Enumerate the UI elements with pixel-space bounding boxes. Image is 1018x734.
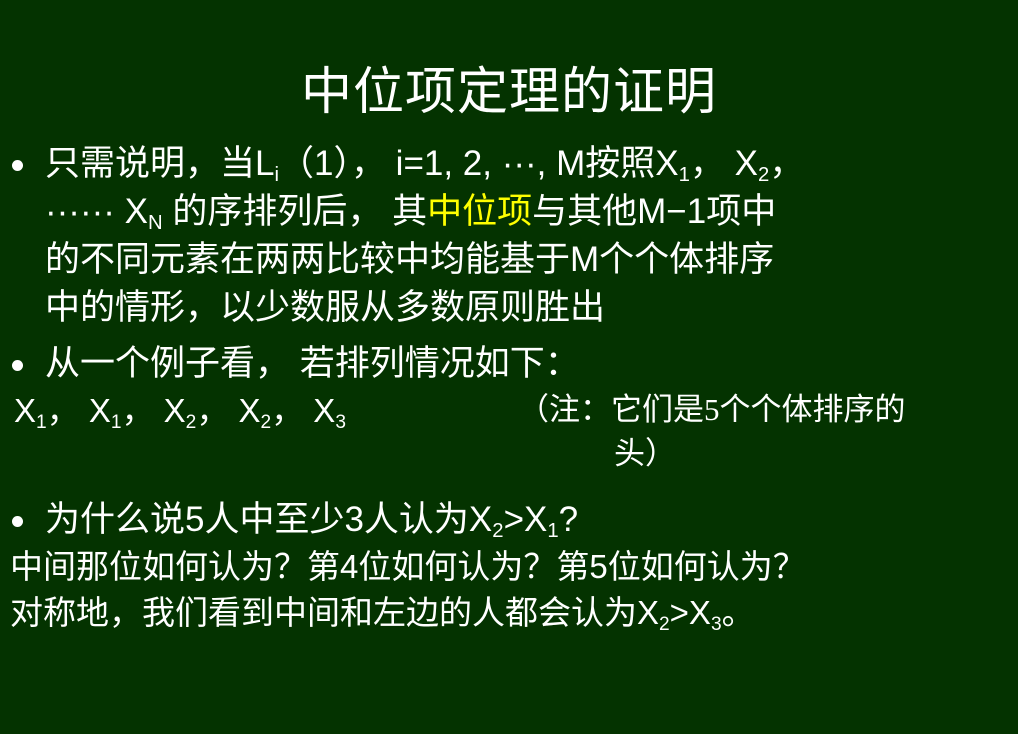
bullet-dot-icon <box>12 516 23 527</box>
example-sequence: X1， X1， X2， X2， X3 <box>14 392 346 429</box>
highlighted-term: 中位项 <box>427 192 532 231</box>
subscript: 3 <box>711 614 722 635</box>
text-segment: X <box>14 392 36 429</box>
text-segment: 。 <box>722 594 755 631</box>
slide-body: 只需说明，当Li（1）， i=1, 2, ···, M按照X1， X2， ···… <box>0 140 1018 642</box>
text-segment: 中的情形，以少数服从多数原则胜出 <box>45 288 605 327</box>
subscript: 2 <box>758 164 769 186</box>
bullet-dot-icon <box>12 160 23 171</box>
subscript: i <box>274 164 279 186</box>
bullet-2-line-1: 从一个例子看， 若排列情况如下： <box>45 340 1018 388</box>
text-segment: ， X <box>47 392 111 429</box>
presentation-slide: 中位项定理的证明 只需说明，当Li（1）， i=1, 2, ···, M按照X1… <box>0 0 1018 734</box>
subscript: 3 <box>335 412 346 433</box>
closing-line-2: 对称地，我们看到中间和左边的人都会认为X2>X3。 <box>0 590 1018 642</box>
text-segment: ······ X <box>45 192 148 231</box>
subscript: 2 <box>659 614 670 635</box>
text-segment: 对称地，我们看到中间和左边的人都会认为X <box>10 594 659 631</box>
text-segment: （1）， i=1, 2, ···, M按照X <box>279 144 679 183</box>
subscript: 2 <box>186 412 197 433</box>
bullet-item-1: 只需说明，当Li（1）， i=1, 2, ···, M按照X1， X2， ···… <box>0 140 1018 332</box>
text-segment: >X <box>670 594 711 631</box>
subscript: 1 <box>679 164 690 186</box>
text-segment: >X <box>504 500 548 539</box>
text-segment: 只需说明，当L <box>45 144 274 183</box>
bullet-1-line-2: ······ XN 的序排列后， 其中位项与其他M−1项中 <box>45 188 1018 236</box>
subscript: 2 <box>492 520 503 542</box>
bullet-dot-icon <box>12 360 23 371</box>
text-segment: 的不同元素在两两比较中均能基于M个个体排序 <box>45 240 774 279</box>
closing-line-1: 中间那位如何认为？第4位如何认为？第5位如何认为？ <box>0 544 1018 590</box>
bullet-1-line-3: 的不同元素在两两比较中均能基于M个个体排序 <box>45 236 1018 284</box>
text-segment: ， X <box>196 392 260 429</box>
example-note-line-2: 头） <box>518 436 676 471</box>
subscript: N <box>148 212 163 234</box>
text-segment: ， X <box>271 392 335 429</box>
text-segment: ， X <box>690 144 758 183</box>
text-segment: ? <box>559 500 578 539</box>
subscript: 2 <box>261 412 272 433</box>
subscript: 1 <box>111 412 122 433</box>
bullet-item-2: 从一个例子看， 若排列情况如下： <box>0 340 1018 388</box>
text-segment: 从一个例子看， 若排列情况如下： <box>45 344 580 383</box>
text-segment: ， <box>769 144 804 183</box>
bullet-item-3: 为什么说5人中至少3人认为X2>X1? <box>0 496 1018 544</box>
bullet-3-line-1: 为什么说5人中至少3人认为X2>X1? <box>45 496 1018 544</box>
text-segment: 的序排列后， 其 <box>163 192 427 231</box>
text-segment: ， X <box>121 392 185 429</box>
subscript: 1 <box>547 520 558 542</box>
example-sequence-row: X1， X1， X2， X2， X3 （注：它们是5个个体排序的 头） <box>0 388 1018 440</box>
subscript: 1 <box>36 412 47 433</box>
page-title: 中位项定理的证明 <box>0 62 1018 122</box>
example-note: （注：它们是5个个体排序的 头） <box>518 388 1018 476</box>
text-segment: 与其他M−1项中 <box>532 192 776 231</box>
text-segment: 为什么说5人中至少3人认为X <box>45 500 492 539</box>
example-note-line-1: （注：它们是5个个体排序的 <box>518 392 906 427</box>
bullet-1-line-1: 只需说明，当Li（1）， i=1, 2, ···, M按照X1， X2， <box>45 140 1018 188</box>
bullet-1-line-4: 中的情形，以少数服从多数原则胜出 <box>45 284 1018 332</box>
